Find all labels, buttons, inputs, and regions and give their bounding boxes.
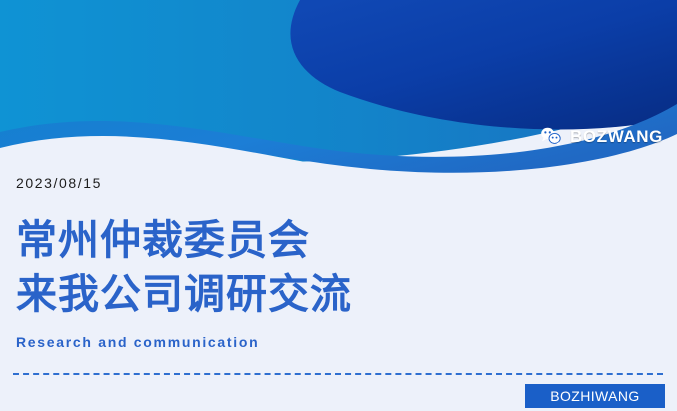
slide-headline: 常州仲裁委员会 来我公司调研交流 <box>16 213 656 321</box>
presentation-slide: BOZWANG 2023/08/15 常州仲裁委员会 来我公司调研交流 Rese… <box>0 0 677 411</box>
brand-name: BOZWANG <box>570 128 663 145</box>
headline-line-2: 来我公司调研交流 <box>16 267 656 321</box>
footer-brand-badge: BOZHIWANG <box>525 384 665 408</box>
slide-subtitle: Research and communication <box>16 335 656 349</box>
slide-content: 2023/08/15 常州仲裁委员会 来我公司调研交流 Research and… <box>16 176 656 349</box>
double-bubble-logo-icon <box>540 126 562 146</box>
headline-line-1: 常州仲裁委员会 <box>16 213 656 267</box>
slide-date: 2023/08/15 <box>16 176 656 190</box>
header-wave-graphic <box>0 0 677 180</box>
footer-divider <box>13 373 663 375</box>
brand-lockup: BOZWANG <box>540 126 663 146</box>
